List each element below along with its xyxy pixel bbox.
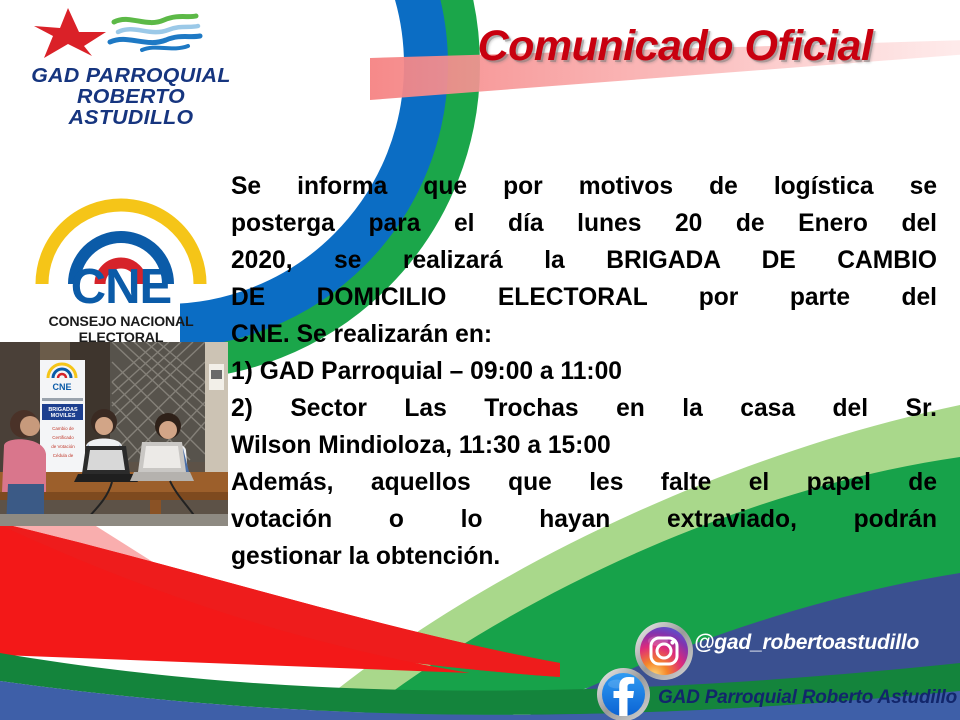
body-line-2: posterga para el día lunes 20 de Enero d… bbox=[231, 205, 937, 242]
brigada-photo: CNE BRIGADAS MOVILES Cambio de Certifica… bbox=[0, 342, 228, 526]
svg-text:Cambio de: Cambio de bbox=[52, 426, 74, 431]
body-closing-line-1: Además, aquellos que les falte el papel … bbox=[231, 464, 937, 501]
svg-text:Certificado: Certificado bbox=[52, 435, 74, 440]
poster-canvas: GAD PARROQUIAL ROBERTO ASTUDILLO Comunic… bbox=[0, 0, 960, 720]
body-item-1: 1) GAD Parroquial – 09:00 a 11:00 bbox=[231, 353, 937, 390]
body-line-3: 2020, se realizará la BRIGADA DE CAMBIO bbox=[231, 242, 937, 279]
facebook-icon[interactable] bbox=[596, 667, 651, 720]
body-line-5: CNE. Se realizarán en: bbox=[231, 316, 937, 353]
facebook-page-name[interactable]: GAD Parroquial Roberto Astudillo bbox=[658, 687, 957, 709]
body-line-4: DE DOMICILIO ELECTORAL por parte del bbox=[231, 279, 937, 316]
announcement-body: Se informa que por motivos de logística … bbox=[231, 168, 937, 575]
body-closing-line-2: votación o lo hayan extraviado, podrán bbox=[231, 501, 937, 538]
svg-text:CNE: CNE bbox=[52, 382, 71, 392]
page-title: Comunicado Oficial bbox=[425, 22, 925, 71]
org-logo-text: GAD PARROQUIAL ROBERTO ASTUDILLO bbox=[22, 65, 240, 128]
body-closing-line-3: gestionar la obtención. bbox=[231, 538, 937, 575]
org-logo-line1: GAD PARROQUIAL bbox=[18, 65, 245, 86]
body-item-2-line-2: Wilson Mindioloza, 11:30 a 15:00 bbox=[231, 427, 937, 464]
body-line-1: Se informa que por motivos de logística … bbox=[231, 168, 937, 205]
svg-text:de Votación: de Votación bbox=[51, 444, 75, 449]
org-logo: GAD PARROQUIAL ROBERTO ASTUDILLO bbox=[22, 6, 240, 128]
cne-acronym: CNE bbox=[36, 262, 206, 312]
instagram-handle[interactable]: @gad_robertoastudillo bbox=[694, 631, 919, 655]
cne-logo: CNE CONSEJO NACIONAL ELECTORAL bbox=[10, 192, 232, 340]
red-star-waves-icon bbox=[22, 6, 240, 58]
svg-text:MOVILES: MOVILES bbox=[51, 413, 76, 419]
body-item-2-line-1: 2) Sector Las Trochas en la casa del Sr. bbox=[231, 390, 937, 427]
org-logo-line2: ROBERTO ASTUDILLO bbox=[18, 86, 245, 128]
svg-text:Cédula de: Cédula de bbox=[53, 453, 74, 458]
